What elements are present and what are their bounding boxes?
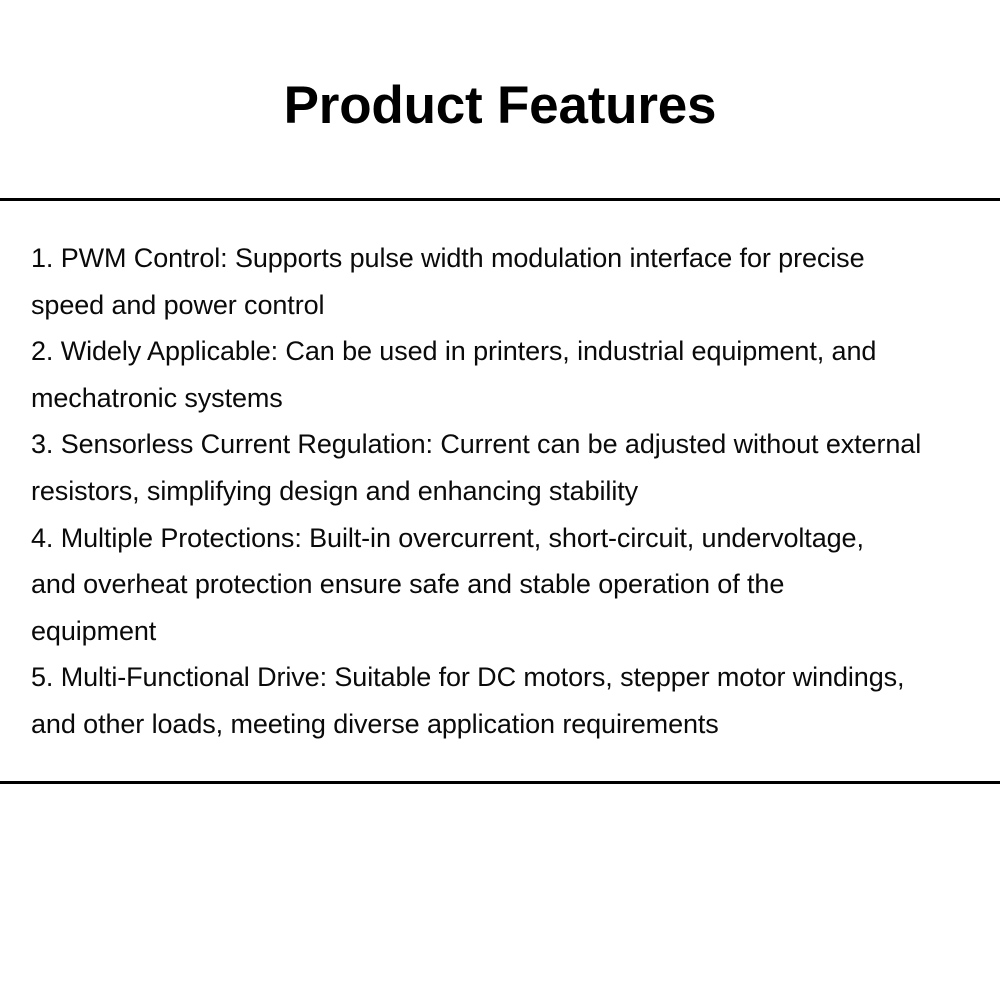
feature-text-line: 1. PWM Control: Supports pulse width mod… [31,235,984,282]
feature-text-line: speed and power control [31,282,984,329]
title-block: Product Features [0,0,1000,198]
feature-text-line: mechatronic systems [31,375,984,422]
feature-text-line: 4. Multiple Protections: Built-in overcu… [31,515,984,562]
feature-text-line: and other loads, meeting diverse applica… [31,701,984,748]
feature-text-line: resistors, simplifying design and enhanc… [31,468,984,515]
features-list: 1. PWM Control: Supports pulse width mod… [0,201,1000,781]
divider-bottom [0,781,1000,784]
feature-text-line: 3. Sensorless Current Regulation: Curren… [31,421,984,468]
product-features-page: Product Features 1. PWM Control: Support… [0,0,1000,1000]
feature-text-line: and overheat protection ensure safe and … [31,561,984,608]
feature-text-line: equipment [31,608,984,655]
page-title: Product Features [284,79,717,163]
feature-text-line: 5. Multi-Functional Drive: Suitable for … [31,654,984,701]
feature-text-line: 2. Widely Applicable: Can be used in pri… [31,328,984,375]
